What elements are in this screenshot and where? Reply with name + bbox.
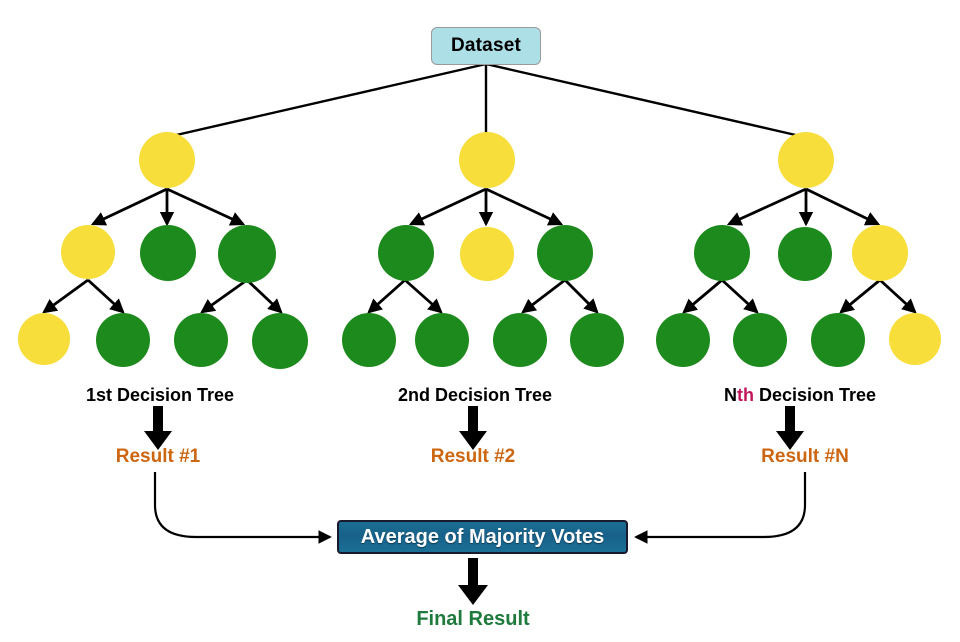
- result-1-text: Result #1: [116, 446, 200, 467]
- tree-n-level2-node-1[interactable]: [694, 225, 750, 281]
- average-of-majority-votes-box[interactable]: Average of Majority Votes: [337, 520, 628, 554]
- tree-1-level3-node-3[interactable]: [174, 313, 228, 367]
- tree-1-root-node[interactable]: [139, 132, 195, 188]
- tree-2-caption: 2nd Decision Tree: [320, 385, 630, 406]
- tree-n-level3-node-4[interactable]: [889, 313, 941, 365]
- tree-2-level2-node-1[interactable]: [378, 225, 434, 281]
- final-result-label: Final Result: [373, 608, 573, 631]
- tree-2-level3-node-3[interactable]: [493, 313, 547, 367]
- tree-1-caption: 1st Decision Tree: [0, 385, 320, 406]
- tree-n-caption-accent: th: [737, 385, 754, 405]
- tree-2-level2-node-3[interactable]: [537, 225, 593, 281]
- dataset-box[interactable]: Dataset: [431, 27, 541, 65]
- tree-to-result-arrows: [144, 406, 804, 450]
- tree-1-level2-node-1[interactable]: [61, 225, 115, 279]
- tree-n-level3-node-3[interactable]: [811, 313, 865, 367]
- tree-n-level2-node-3[interactable]: [852, 225, 908, 281]
- tree-2-caption-text: 2nd Decision Tree: [398, 385, 552, 405]
- result-label-2: Result #2: [373, 446, 573, 468]
- tree-n-level3-node-2[interactable]: [733, 313, 787, 367]
- tree-2-level2-node-2[interactable]: [460, 227, 514, 281]
- result-2-text: Result #2: [431, 446, 515, 467]
- result-label-1: Result #1: [58, 446, 258, 468]
- tree-2-root-node[interactable]: [459, 132, 515, 188]
- tree-1-level3-node-4[interactable]: [252, 313, 308, 369]
- tree-1-level3-node-1[interactable]: [18, 313, 70, 365]
- tree-2-level3-node-4[interactable]: [570, 313, 624, 367]
- tree-n-caption-suffix: Decision Tree: [754, 385, 876, 405]
- tree-n-caption: Nth Decision Tree: [640, 385, 960, 406]
- random-forest-diagram: Dataset 1st Decision Tree: [0, 0, 960, 642]
- tree-n-level2-node-2[interactable]: [778, 227, 832, 281]
- tree-2-level3-node-1[interactable]: [342, 313, 396, 367]
- result-label-n: Result #N: [705, 446, 905, 468]
- tree-1-level2-node-2[interactable]: [140, 225, 196, 281]
- tree-n-caption-prefix: N: [724, 385, 737, 405]
- tree-1-level3-node-2[interactable]: [96, 313, 150, 367]
- tree-2-level3-node-2[interactable]: [415, 313, 469, 367]
- average-of-majority-votes-label: Average of Majority Votes: [361, 526, 604, 549]
- final-result-text: Final Result: [416, 608, 529, 630]
- tree-1-caption-text: 1st Decision Tree: [86, 385, 234, 405]
- dataset-label: Dataset: [451, 35, 521, 57]
- tree-n-root-node[interactable]: [778, 132, 834, 188]
- result-n-text: Result #N: [761, 446, 849, 467]
- vote-to-final-arrow: [458, 558, 488, 605]
- dataset-to-roots-edges: [172, 64, 800, 136]
- tree-1-level2-node-3[interactable]: [218, 225, 276, 283]
- tree-n-level3-node-1[interactable]: [656, 313, 710, 367]
